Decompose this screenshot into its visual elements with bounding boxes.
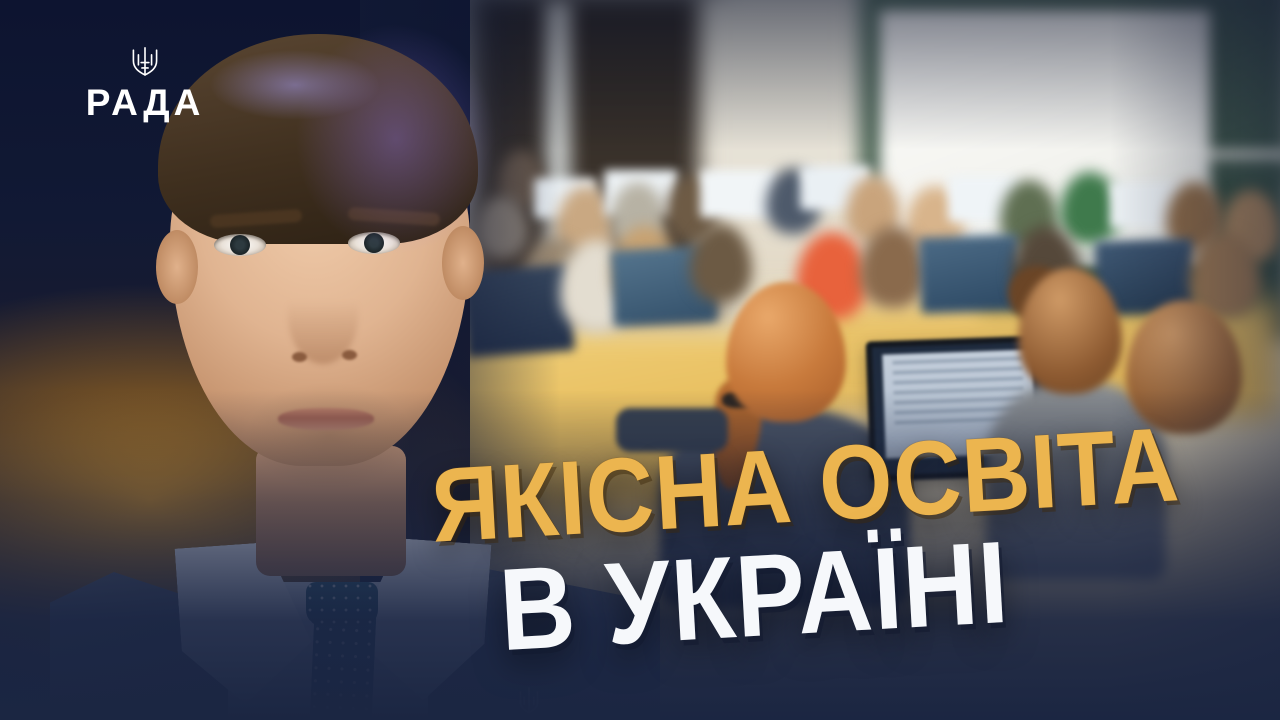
pupil-left [230,235,250,255]
bottom-gradient-overlay [0,390,1280,720]
video-thumbnail: РАДА ЯКІСНА ОСВІТА В УКРАЇНІ [0,0,1280,720]
pupil-right [364,233,384,253]
nostril-right [342,350,357,360]
channel-logo: РАДА [60,44,230,121]
nostril-left [292,352,307,362]
logo-wordmark: РАДА [60,84,230,121]
laptop-blob [919,234,1022,313]
hair-highlight [210,50,380,120]
ear-left [156,230,198,304]
ukraine-trident-icon [128,44,162,78]
ear-right [442,226,484,300]
